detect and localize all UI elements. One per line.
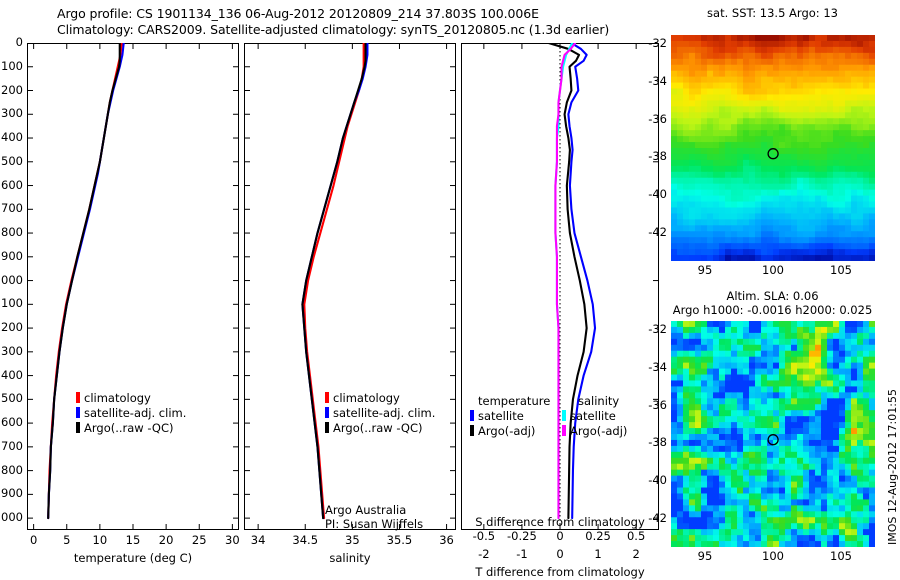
difference-legend-label: Argo(-adj) [570, 424, 627, 438]
difference-legend-swatch [470, 425, 474, 436]
sla-lat-tick-5: -42 [629, 511, 667, 525]
temperature-legend-swatch [76, 392, 80, 403]
difference-legend-label: satellite [478, 409, 524, 423]
salinity-legend-item: climatology [325, 391, 435, 406]
sla-lat-tick-0: -32 [629, 322, 667, 336]
temperature-depth-tick-5: 500 [0, 154, 23, 168]
temperature-profile-plot [27, 43, 239, 530]
sla-lon-tick-1: 100 [743, 549, 803, 563]
sla-map-panel [671, 321, 875, 547]
temperature-legend-label: satellite-adj. clim. [84, 406, 186, 420]
temperature-legend-item: Argo(..raw -QC) [76, 421, 186, 436]
salinity-legend-label: satellite-adj. clim. [333, 406, 435, 420]
sst-lat-tick-5: -42 [629, 225, 667, 239]
sst-lon-tick-2: 105 [811, 263, 871, 277]
sla-lat-tick-1: -34 [629, 360, 667, 374]
sla-map-title-line2: Argo h1000: -0.0016 h2000: 0.025 [660, 303, 885, 317]
salinity-legend-swatch [325, 392, 329, 403]
temperature-depth-tick-13: 1300 [0, 344, 23, 358]
sst-lon-tick-0: 95 [675, 263, 735, 277]
sla-lat-tick-3: -38 [629, 435, 667, 449]
salinity-legend-swatch [325, 407, 329, 418]
difference-legend-label: Argo(-adj) [478, 424, 535, 438]
temperature-depth-tick-7: 700 [0, 201, 23, 215]
temperature-depth-tick-4: 400 [0, 130, 23, 144]
temperature-depth-tick-3: 300 [0, 106, 23, 120]
temperature-legend: climatologysatellite-adj. clim.Argo(..ra… [76, 391, 186, 436]
temperature-depth-tick-15: 1500 [0, 391, 23, 405]
difference-legend-headers: temperaturesalinity [470, 392, 627, 407]
sst-lat-tick-2: -36 [629, 112, 667, 126]
sst-lat-tick-4: -40 [629, 187, 667, 201]
figure-root: Argo profile: CS 1901134_136 06-Aug-2012… [0, 0, 900, 580]
temperature-depth-tick-2: 200 [0, 83, 23, 97]
salinity-profile-panel [244, 43, 456, 530]
figure-title-line2: Climatology: CARS2009. Satellite-adjuste… [57, 22, 609, 37]
temperature-x-axis-label: temperature (deg C) [27, 551, 239, 565]
salinity-legend-item: Argo(..raw -QC) [325, 421, 435, 436]
temperature-depth-tick-14: 1400 [0, 368, 23, 382]
temperature-depth-tick-8: 800 [0, 225, 23, 239]
credit-line1: Argo Australia [325, 503, 406, 517]
temperature-depth-tick-16: 1600 [0, 415, 23, 429]
difference-bottom-axis-label: T difference from climatology [461, 565, 659, 579]
difference-legend-swatch [562, 410, 566, 421]
sla-lat-tick-4: -40 [629, 473, 667, 487]
temperature-depth-tick-12: 1200 [0, 320, 23, 334]
difference-legend-swatch [470, 410, 474, 421]
sla-map-title-line1: Altim. SLA: 0.06 [670, 289, 875, 303]
timestamp-vertical: IMOS 12-Aug-2012 17:01:55 [886, 545, 900, 558]
difference-top-tick-4: 0.5 [606, 529, 666, 543]
temperature-legend-item: satellite-adj. clim. [76, 406, 186, 421]
temperature-depth-tick-17: 1700 [0, 439, 23, 453]
temperature-legend-swatch [76, 422, 80, 433]
difference-legend-salinity-entry: Argo(-adj) [562, 424, 627, 439]
sla-lat-tick-2: -36 [629, 398, 667, 412]
temperature-legend-label: Argo(..raw -QC) [84, 421, 174, 435]
temperature-depth-tick-10: 1000 [0, 273, 23, 287]
temperature-legend-swatch [76, 407, 80, 418]
sst-lat-tick-3: -38 [629, 149, 667, 163]
difference-bottom-tick-4: 2 [606, 547, 666, 561]
temperature-depth-tick-1: 100 [0, 59, 23, 73]
difference-legend-row: Argo(-adj)Argo(-adj) [470, 422, 627, 437]
salinity-legend-label: Argo(..raw -QC) [333, 421, 423, 435]
temperature-legend-item: climatology [76, 391, 186, 406]
sst-lat-tick-1: -34 [629, 74, 667, 88]
difference-legend-label: satellite [570, 409, 616, 423]
temperature-depth-tick-0: 0 [0, 35, 23, 49]
salinity-x-axis-label: salinity [244, 551, 456, 565]
difference-legend-row: satellitesatellite [470, 407, 627, 422]
timestamp-text: IMOS 12-Aug-2012 17:01:55 [886, 389, 899, 545]
salinity-legend-label: climatology [333, 391, 400, 405]
figure-title-line1: Argo profile: CS 1901134_136 06-Aug-2012… [57, 6, 539, 21]
temperature-depth-tick-19: 1900 [0, 486, 23, 500]
temperature-depth-tick-6: 600 [0, 178, 23, 192]
temperature-depth-tick-20: 2000 [0, 510, 23, 524]
sst-map-title: sat. SST: 13.5 Argo: 13 [670, 6, 875, 20]
sst-map-panel [671, 35, 875, 261]
salinity-legend-swatch [325, 422, 329, 433]
sst-lat-tick-0: -32 [629, 36, 667, 50]
temperature-depth-tick-18: 1800 [0, 463, 23, 477]
sst-lon-tick-1: 100 [743, 263, 803, 277]
salinity-profile-plot [244, 43, 456, 530]
temperature-profile-panel [27, 43, 239, 530]
temperature-depth-tick-11: 1100 [0, 296, 23, 310]
sla-lon-tick-2: 105 [811, 549, 871, 563]
sla-map-image [671, 321, 875, 547]
temperature-legend-label: climatology [84, 391, 151, 405]
sst-map-image [671, 35, 875, 261]
salinity-legend: climatologysatellite-adj. clim.Argo(..ra… [325, 391, 435, 436]
difference-legend-swatch [562, 425, 566, 436]
difference-legend: temperaturesalinitysatellitesatelliteArg… [470, 392, 627, 437]
sla-lon-tick-0: 95 [675, 549, 735, 563]
credit-line2: PI: Susan Wijffels [325, 517, 423, 531]
temperature-depth-tick-9: 900 [0, 249, 23, 263]
salinity-legend-item: satellite-adj. clim. [325, 406, 435, 421]
difference-legend-temperature-entry: Argo(-adj) [470, 424, 562, 439]
